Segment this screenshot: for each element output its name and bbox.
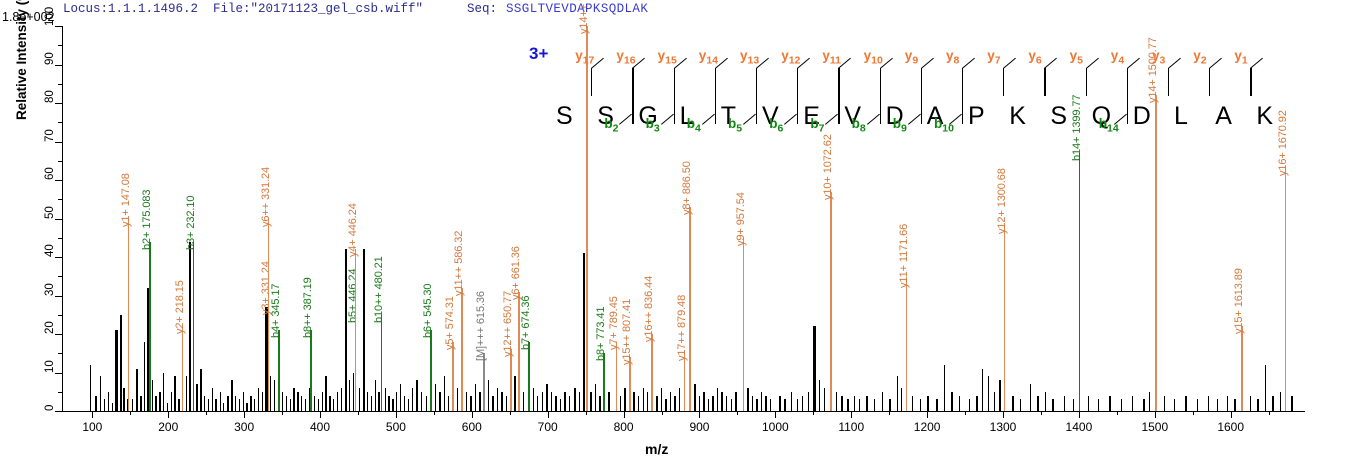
spectrum-peak	[375, 380, 376, 411]
spectrum-peak	[371, 396, 372, 411]
b-ion-cut-diagonal	[908, 114, 921, 125]
residue-16: L	[1174, 102, 1188, 131]
spectrum-peak	[808, 392, 809, 411]
spectrum-peak	[988, 376, 989, 411]
spectrum-peak	[392, 399, 393, 411]
spectrum-peak	[435, 384, 436, 411]
x-axis-tick-label: 500	[386, 420, 406, 434]
y-ion-label-y15: y15	[658, 48, 677, 67]
spectrum-peak	[674, 396, 675, 411]
x-axis-tick	[396, 411, 397, 418]
peak-annotation-label: b5+ 446.24	[347, 268, 359, 322]
spectrum-peak	[186, 376, 187, 411]
spectrum-peak	[305, 399, 306, 411]
y-axis-tick	[55, 411, 62, 412]
spectrum-peak	[140, 396, 141, 411]
x-axis-minor-tick	[813, 411, 814, 415]
spectrum-peak	[770, 399, 771, 411]
x-axis-tick-label: 1100	[838, 420, 864, 434]
spectrum-peak	[466, 392, 467, 411]
y-ion-cut-diagonal	[962, 58, 975, 69]
spectrum-peak	[506, 396, 507, 411]
annotated-peak	[278, 330, 279, 411]
b-ion-label-b14: b14	[1099, 116, 1119, 135]
x-axis-minor-tick	[662, 411, 663, 415]
peptide-ladder: SSGLTVEVDAPKSQDLAKy17y16y15y14y13y12y11y…	[0, 34, 1362, 134]
spectrum-peak	[735, 392, 736, 411]
annotated-peak	[355, 249, 356, 411]
spectrum-peak	[717, 388, 718, 411]
spectrum-peak	[712, 396, 713, 411]
spectrum-peak	[854, 396, 855, 411]
spectrum-peak	[235, 396, 236, 411]
spectrum-peak	[1030, 384, 1031, 411]
spectrum-peak	[329, 396, 330, 411]
y-ion-cut-tick	[1044, 68, 1045, 96]
spectrum-peak	[115, 330, 117, 411]
spectrum-peak	[747, 388, 748, 411]
residue-15: D	[1133, 102, 1151, 131]
b-ion-cut-tick	[921, 96, 922, 124]
peak-annotation-label: b10++ 480.21	[373, 256, 385, 323]
spectrum-peak	[120, 315, 122, 411]
peak-annotation-label: y17++ 879.48	[676, 295, 688, 361]
spectrum-peak	[802, 396, 803, 411]
y-ion-cut-tick	[1168, 68, 1169, 96]
spectrum-peak	[200, 369, 201, 411]
spectrum-peak	[132, 399, 133, 411]
spectrum-peak	[912, 396, 913, 411]
spectrum-peak	[1088, 396, 1089, 411]
peak-annotation-label: y5+ 574.31	[444, 296, 456, 350]
x-axis-minor-tick	[1041, 411, 1042, 415]
y-ion-label-y12: y12	[781, 48, 800, 67]
spectrum-peak	[665, 399, 666, 411]
annotated-peak	[193, 242, 194, 411]
b-ion-label-b10: b10	[934, 116, 954, 135]
spectrum-peak	[1197, 399, 1198, 411]
peak-annotation-label: y1+ 147.08	[120, 173, 132, 227]
spectrum-peak	[560, 399, 561, 411]
peak-annotation-label: [M]+++ 615.36	[475, 291, 487, 361]
y-ion-label-y11: y11	[822, 48, 841, 67]
spectrum-peak	[982, 369, 983, 411]
spectrum-peak	[501, 392, 502, 411]
residue-11: P	[968, 102, 985, 131]
spectrum-peak	[624, 388, 625, 411]
x-axis-minor-tick	[889, 411, 890, 415]
annotated-peak	[1241, 326, 1242, 411]
spectrum-peak	[404, 396, 405, 411]
peak-annotation-label: b8+ 773.41	[595, 307, 607, 361]
spectrum-peak	[1073, 399, 1074, 411]
y-axis-minor-tick	[58, 238, 62, 239]
spectrum-peak	[569, 396, 570, 411]
spectrum-peak	[1149, 392, 1150, 411]
spectrum-peak	[159, 392, 160, 411]
spectrum-peak	[765, 396, 766, 411]
spectrum-peak	[901, 388, 902, 411]
spectrum-peak	[882, 392, 883, 411]
peak-annotation-label: y15++ 807.41	[621, 299, 633, 365]
spectrum-peak	[497, 388, 498, 411]
y-ion-cut-tick	[880, 68, 881, 96]
y-axis-minor-tick	[58, 161, 62, 162]
y-ion-cut-diagonal	[1044, 58, 1057, 69]
spectrum-peak	[297, 392, 298, 411]
y-axis-minor-tick	[58, 276, 62, 277]
x-axis-tick	[320, 411, 321, 418]
b-ion-label-b6: b6	[769, 116, 783, 135]
spectrum-peak	[1217, 399, 1218, 411]
peak-annotation-label: b8++ 387.19	[302, 277, 314, 338]
y-ion-cut-tick	[756, 68, 757, 96]
spectrum-peak	[246, 403, 247, 411]
y-axis-tick	[55, 219, 62, 220]
spectrum-peak	[112, 403, 113, 411]
spectrum-peak	[1174, 399, 1175, 411]
spectrum-peak	[155, 396, 156, 411]
peak-annotation-label: y9+ 957.54	[735, 192, 747, 246]
spectrum-peak	[152, 380, 153, 411]
y-ion-label-y5: y5	[1070, 48, 1083, 67]
x-axis-tick	[851, 411, 852, 418]
spectrum-peak	[1020, 399, 1021, 411]
peak-annotation-label: y16++ 836.44	[643, 276, 655, 342]
b-ion-label-b7: b7	[810, 116, 824, 135]
spectrum-peak	[694, 384, 695, 411]
annotated-peak	[616, 342, 617, 411]
spectrum-peak	[196, 384, 197, 411]
spectrum-peak	[359, 388, 360, 411]
x-axis-tick	[244, 411, 245, 418]
y-ion-cut-diagonal	[1168, 58, 1181, 69]
spectrum-peak	[726, 396, 727, 411]
b-ion-cut-diagonal	[867, 114, 880, 125]
spectrum-peak	[421, 392, 422, 411]
spectrum-peak	[1109, 396, 1110, 411]
spectrum-peak	[1265, 365, 1266, 411]
annotated-peak	[1285, 168, 1286, 411]
y-ion-cut-tick	[715, 68, 716, 96]
peak-annotation-label: y6+ 661.36	[510, 246, 522, 300]
spectrum-peak	[1208, 396, 1209, 411]
spectrum-peak	[523, 392, 524, 411]
spectrum-peak	[994, 392, 995, 411]
spectrum-peak	[470, 396, 471, 411]
x-axis-tick-label: 600	[462, 420, 482, 434]
spectrum-peak	[874, 399, 875, 411]
spectrum-peak	[243, 392, 244, 411]
annotated-peak	[528, 342, 529, 411]
b-ion-cut-tick	[838, 96, 839, 124]
b-ion-cut-diagonal	[825, 114, 838, 125]
spectrum-peak	[416, 380, 417, 411]
spectrum-peak	[270, 376, 271, 411]
spectrum-peak	[290, 399, 291, 411]
spectrum-peak	[1291, 396, 1292, 411]
spectrum-peak	[301, 396, 302, 411]
b-ion-cut-tick	[797, 96, 798, 124]
x-axis-minor-tick	[282, 411, 283, 415]
spectrum-peak	[254, 399, 255, 411]
spectrum-peak	[475, 384, 476, 411]
b-ion-cut-tick	[962, 96, 963, 124]
spectrum-peak	[969, 399, 970, 411]
x-axis-tick	[472, 411, 473, 418]
b-ion-cut-tick	[632, 96, 633, 124]
spectrum-peak	[583, 253, 585, 411]
annotated-peak	[430, 330, 431, 411]
spectrum-peak	[936, 399, 937, 411]
spectrum-peak	[679, 388, 680, 411]
spectrum-peak	[866, 396, 867, 411]
spectrum-peak	[514, 376, 515, 411]
residue-18: K	[1256, 102, 1273, 131]
spectrum-peak	[325, 376, 326, 411]
spectrum-peak	[349, 380, 350, 411]
annotated-peak	[743, 238, 744, 411]
x-axis-tick-label: 200	[158, 420, 178, 434]
y-ion-cut-tick	[838, 68, 839, 96]
spectrum-peak	[555, 396, 556, 411]
b-ion-cut-diagonal	[743, 114, 756, 125]
b-ion-cut-diagonal	[784, 114, 797, 125]
peak-annotation-label: y7+ 789.45	[608, 296, 620, 350]
y-ion-label-y7: y7	[987, 48, 1000, 67]
spectrum-peak	[282, 392, 283, 411]
x-axis-tick	[775, 411, 776, 418]
y-axis-tick	[55, 373, 62, 374]
annotated-peak	[603, 353, 604, 411]
spectrum-peak	[212, 388, 213, 411]
spectrum-peak	[959, 396, 960, 411]
x-axis-minor-tick	[358, 411, 359, 415]
spectrum-peak	[1037, 396, 1038, 411]
x-axis-tick-label: 1200	[914, 420, 941, 434]
x-axis-tick	[624, 411, 625, 418]
spectrum-peak	[353, 373, 354, 412]
annotated-peak	[149, 242, 150, 411]
spectrum-peak	[703, 392, 704, 411]
y-ion-label-y13: y13	[740, 48, 759, 67]
spectrum-peak	[1280, 392, 1281, 411]
x-axis-minor-tick	[130, 411, 131, 415]
spectrum-peak	[337, 392, 338, 411]
spectrum-peak	[400, 384, 401, 411]
spectrum-peak	[136, 369, 137, 411]
annotated-peak	[268, 219, 269, 412]
y-ion-cut-diagonal	[1250, 58, 1263, 69]
spectrum-peak	[670, 392, 671, 411]
spectrum-peak	[824, 388, 825, 411]
spectrum-peak	[333, 399, 334, 411]
x-axis-minor-tick	[1117, 411, 1118, 415]
spectrum-peak	[286, 396, 287, 411]
annotated-peak	[452, 342, 453, 411]
annotated-peak	[182, 326, 183, 411]
residue-17: A	[1215, 102, 1232, 131]
y-ion-cut-tick	[674, 68, 675, 96]
spectrum-peak	[546, 384, 547, 411]
spectrum-peak	[1098, 399, 1099, 411]
spectrum-peak	[633, 392, 634, 411]
spectrum-peak	[699, 396, 700, 411]
y-ion-label-y8: y8	[946, 48, 959, 67]
y-ion-label-y14: y14	[699, 48, 718, 67]
x-axis-tick-label: 700	[538, 420, 558, 434]
peak-annotation-label: b3+ 232.10	[185, 195, 197, 249]
peak-annotation-label: y12++ 650.77	[502, 291, 514, 357]
annotated-peak	[689, 207, 690, 411]
x-axis-tick	[168, 411, 169, 418]
spectrum-peak	[819, 380, 820, 411]
spectrum-peak	[1143, 399, 1144, 411]
annotated-peak	[651, 334, 652, 411]
y-ion-label-y17: y17	[575, 48, 594, 67]
x-axis-minor-tick	[737, 411, 738, 415]
spectrum-peak	[1164, 396, 1165, 411]
y-ion-cut-tick	[1209, 68, 1210, 96]
spectrum-peak	[1272, 396, 1273, 411]
spectrum-peak	[859, 399, 860, 411]
annotated-peak	[310, 330, 311, 411]
residue-13: S	[1050, 102, 1067, 131]
spectrum-peak	[439, 392, 440, 411]
spectrum-peak	[220, 392, 221, 411]
spectrum-peak	[367, 392, 368, 411]
residue-12: K	[1009, 102, 1026, 131]
spectrum-peak	[542, 392, 543, 411]
spectrum-peak	[488, 380, 489, 411]
spectrum-peak	[262, 392, 263, 411]
y-axis-tick	[55, 142, 62, 143]
b-ion-label-b4: b4	[687, 116, 701, 135]
x-axis-tick-label: 900	[689, 420, 709, 434]
spectrum-peak	[412, 388, 413, 411]
x-axis-tick-label: 100	[82, 420, 102, 434]
spectrum-peak	[1045, 392, 1046, 411]
spectrum-peak	[223, 403, 224, 411]
spectrum-peak	[797, 399, 798, 411]
x-axis-tick	[92, 411, 93, 418]
spectrum-peak	[1185, 396, 1186, 411]
annotated-peak	[381, 315, 382, 411]
peak-annotation-label: b6+ 545.30	[422, 284, 434, 338]
x-axis-line: 1002003004005006007008009001000110012001…	[62, 411, 1305, 412]
x-axis-tick-label: 1000	[762, 420, 789, 434]
y-ion-label-y4: y4	[1111, 48, 1124, 67]
spectrum-peak	[779, 396, 780, 411]
spectrum-peak	[656, 396, 657, 411]
spectrum-peak	[752, 396, 753, 411]
annotated-peak	[684, 353, 685, 411]
spectrum-peak	[385, 388, 386, 411]
spectrum-peak	[1227, 396, 1228, 411]
spectrum-peak	[448, 396, 449, 411]
spectrum-peak	[731, 399, 732, 411]
spectrum-peak	[1250, 396, 1251, 411]
spectrum-peak	[791, 392, 792, 411]
b-ion-cut-tick	[715, 96, 716, 124]
spectrum-peak	[1012, 396, 1013, 411]
b-ion-cut-diagonal	[661, 114, 674, 125]
x-axis-tick-label: 1600	[1217, 420, 1244, 434]
spectrum-peak	[378, 392, 379, 411]
spectrum-peak	[927, 396, 928, 411]
chart-header: 1.8e+002 Locus:1.1.1.1496.2 File:"201711…	[0, 0, 1362, 20]
spectrum-peak	[579, 392, 580, 411]
y-axis-tick	[55, 296, 62, 297]
x-axis-tick	[927, 411, 928, 418]
peak-annotation-label: b4+ 345.17	[270, 284, 282, 338]
y-ion-cut-diagonal	[1209, 58, 1222, 69]
spectrum-peak	[537, 396, 538, 411]
spectrum-peak	[123, 388, 124, 411]
spectrum-peak	[258, 388, 259, 411]
x-axis-minor-tick	[1269, 411, 1270, 415]
y-ion-cut-tick	[962, 68, 963, 96]
spectrum-peak	[231, 380, 232, 411]
spectrum-peak	[999, 380, 1000, 411]
spectrum-peak	[388, 396, 389, 411]
y-ion-cut-diagonal	[1003, 58, 1016, 69]
spectrum-peak	[643, 388, 644, 411]
spectrum-peak	[408, 399, 409, 411]
y-ion-label-y16: y16	[616, 48, 635, 67]
spectrum-peak	[144, 342, 145, 411]
x-axis-minor-tick	[1193, 411, 1194, 415]
x-axis-tick	[1155, 411, 1156, 418]
y-ion-label-y6: y6	[1028, 48, 1041, 67]
y-axis-minor-tick	[58, 392, 62, 393]
x-axis-tick	[548, 411, 549, 418]
spectrum-peak	[208, 399, 209, 411]
y-ion-label-y2: y2	[1193, 48, 1206, 67]
y-ion-label-y9: y9	[905, 48, 918, 67]
spectrum-peak	[1132, 396, 1133, 411]
y-axis-minor-tick	[58, 315, 62, 316]
spectrum-peak	[661, 388, 662, 411]
annotated-peak	[128, 219, 129, 412]
x-axis-minor-tick	[586, 411, 587, 415]
annotated-peak	[830, 192, 831, 411]
peak-annotation-label: y12+ 1300.68	[996, 168, 1008, 234]
b-ion-cut-tick	[880, 96, 881, 124]
x-axis-tick-label: 400	[310, 420, 330, 434]
spectrum-peak	[492, 396, 493, 411]
spectrum-peak	[90, 365, 91, 411]
peak-annotation-label: y10+ 1072.62	[822, 134, 834, 200]
annotated-peak	[1079, 153, 1080, 411]
spectrum-peak	[551, 392, 552, 411]
spectrum-peak	[620, 396, 621, 411]
spectrum-peak	[761, 392, 762, 411]
spectrum-peak	[444, 376, 445, 411]
spectrum-peak	[708, 399, 709, 411]
peak-annotation-label: y11++ 586.32	[453, 231, 465, 296]
spectrum-peak	[189, 242, 191, 411]
b-ion-label-b8: b8	[852, 116, 866, 135]
spectrum-peak	[178, 399, 179, 411]
annotated-peak	[461, 288, 462, 411]
y-axis-minor-tick	[58, 199, 62, 200]
y-ion-label-y1: y1	[1234, 48, 1247, 67]
annotated-peak	[906, 280, 907, 411]
x-axis-minor-tick	[206, 411, 207, 415]
x-axis-tick	[699, 411, 700, 418]
residue-1: S	[556, 102, 573, 131]
